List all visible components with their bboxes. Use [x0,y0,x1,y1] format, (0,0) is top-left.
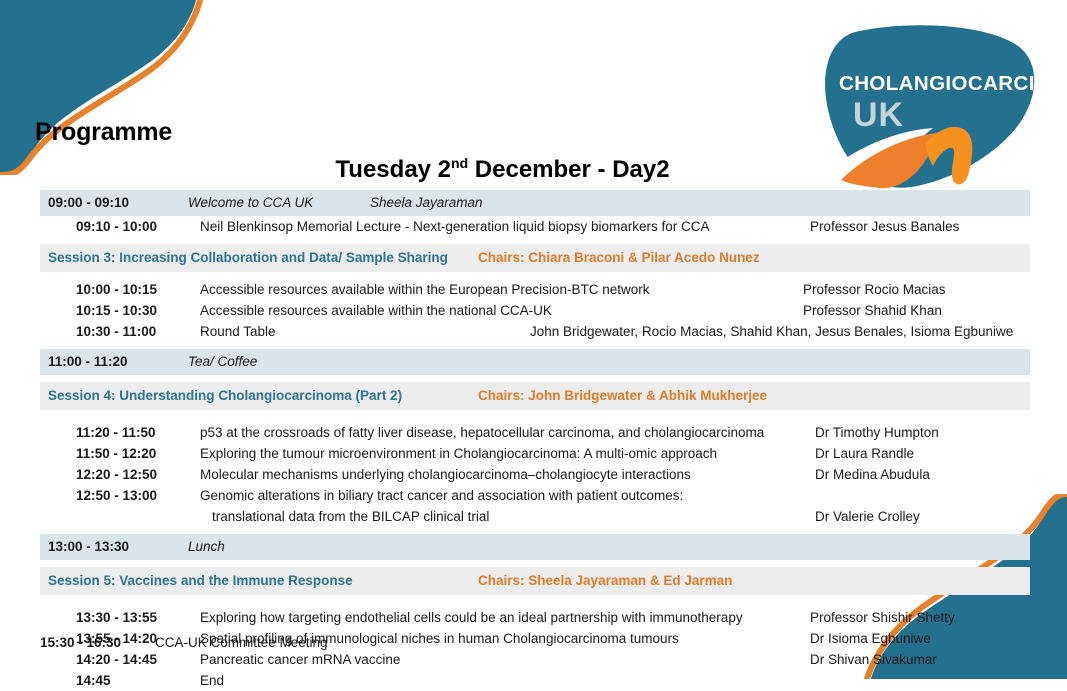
logo-secondary-text: UK [853,96,904,134]
talk-row: 12:50 - 13:00Genomic alterations in bili… [40,485,1030,506]
talk-row: 13:30 - 13:55Exploring how targeting end… [40,607,1030,628]
page-title: Programme [35,118,172,147]
talk-row: 10:00 - 10:15Accessible resources availa… [40,279,1030,300]
day-heading-suffix: December - Day2 [468,156,669,183]
row-spacer [40,560,1030,567]
break-row: 13:00 - 13:30Lunch [40,534,1030,560]
row-spacer [40,342,1030,349]
committee-meeting-row: 15:30 - 16:30 CCA-UK Committee Meeting [40,635,328,650]
row-spacer [40,527,1030,534]
orange-swoosh-line [0,0,200,175]
session-title: Tea/ Coffee [188,352,1022,371]
session-time: 10:30 - 11:00 [48,322,188,341]
session-title: Genomic alterations in biliary tract can… [188,486,1022,505]
committee-meeting-time: 15:30 - 16:30 [40,635,155,650]
row-spacer [40,272,1030,279]
session-speaker: Dr Isioma Egbuniwe [810,629,931,648]
session-time: 10:00 - 10:15 [48,280,188,299]
talk-row: 11:20 - 11:50p53 at the crossroads of fa… [40,422,1030,443]
talk-row: 11:50 - 12:20Exploring the tumour microe… [40,443,1030,464]
session-speaker: Dr Shivan Sivakumar [810,650,937,669]
schedule-table: 09:00 - 09:10Welcome to CCA UKSheela Jay… [40,190,1030,691]
session-speaker: Sheela Jayaraman [370,193,483,212]
session-time: 09:10 - 10:00 [48,217,188,236]
break-row: 09:00 - 09:10Welcome to CCA UKSheela Jay… [40,190,1030,216]
session-time: 11:50 - 12:20 [48,444,188,463]
session-title: End [188,671,1022,690]
top-left-decoration [0,0,230,175]
row-spacer [40,375,1030,382]
session-time: 14:20 - 14:45 [48,650,188,669]
session-chairs: Chairs: Sheela Jayaraman & Ed Jarman [478,571,1022,590]
session-speaker: Dr Timothy Humpton [815,423,939,442]
teal-swoosh-shape [0,0,196,175]
row-spacer [40,237,1030,244]
session-header-row: Session 3: Increasing Collaboration and … [40,244,1030,272]
day-heading-superscript: nd [451,155,468,171]
talk-row: 09:10 - 10:00Neil Blenkinsop Memorial Le… [40,216,1030,237]
day-heading: Tuesday 2nd December - Day2 [0,155,1005,184]
session-chairs: Chairs: John Bridgewater & Abhik Mukherj… [478,386,1022,405]
session-title: Lunch [188,537,1022,556]
session-chairs: Chairs: Chiara Braconi & Pilar Acedo Nun… [478,248,1022,267]
session-time: 14:45 [48,671,188,690]
session-time: 09:00 - 09:10 [48,193,188,212]
session-speaker: Professor Shishir Shetty [810,608,955,627]
session-header-row: Session 5: Vaccines and the Immune Respo… [40,567,1030,595]
session-speaker: Professor Shahid Khan [803,301,942,320]
logo-primary-text: CHOLANGIOCARCINOMA [839,72,1047,95]
break-row: 11:00 - 11:20Tea/ Coffee [40,349,1030,375]
session-time: 10:15 - 10:30 [48,301,188,320]
session-title: Session 3: Increasing Collaboration and … [48,248,478,267]
committee-meeting-title: CCA-UK Committee Meeting [155,635,328,650]
session-speaker: Dr Laura Randle [815,444,914,463]
session-speaker: John Bridgewater, Rocio Macias, Shahid K… [530,322,1013,341]
day-heading-prefix: Tuesday 2 [335,156,451,183]
talk-row: translational data from the BILCAP clini… [40,506,1030,527]
session-time: 12:20 - 12:50 [48,465,188,484]
session-time: 13:00 - 13:30 [48,537,188,556]
row-spacer [40,595,1030,607]
talk-row: 12:20 - 12:50Molecular mechanisms underl… [40,464,1030,485]
talk-row: 14:20 - 14:45Pancreatic cancer mRNA vacc… [40,649,1030,670]
talk-row: 10:30 - 11:00Round TableJohn Bridgewater… [40,321,1030,342]
session-speaker: Professor Rocio Macias [803,280,946,299]
session-header-row: Session 4: Understanding Cholangiocarcin… [40,382,1030,410]
session-title: Session 4: Understanding Cholangiocarcin… [48,386,478,405]
talk-row: 14:45End [40,670,1030,691]
row-spacer [40,410,1030,422]
session-time: 11:00 - 11:20 [48,352,188,371]
session-title: Welcome to CCA UK [188,193,1022,212]
session-speaker: Professor Jesus Banales [810,217,959,236]
session-time: 12:50 - 13:00 [48,486,188,505]
session-time: 11:20 - 11:50 [48,423,188,442]
session-speaker: Dr Valerie Crolley [815,507,920,526]
session-speaker: Dr Medina Abudula [815,465,930,484]
session-title: Session 5: Vaccines and the Immune Respo… [48,571,478,590]
talk-row: 10:15 - 10:30Accessible resources availa… [40,300,1030,321]
session-time: 13:30 - 13:55 [48,608,188,627]
